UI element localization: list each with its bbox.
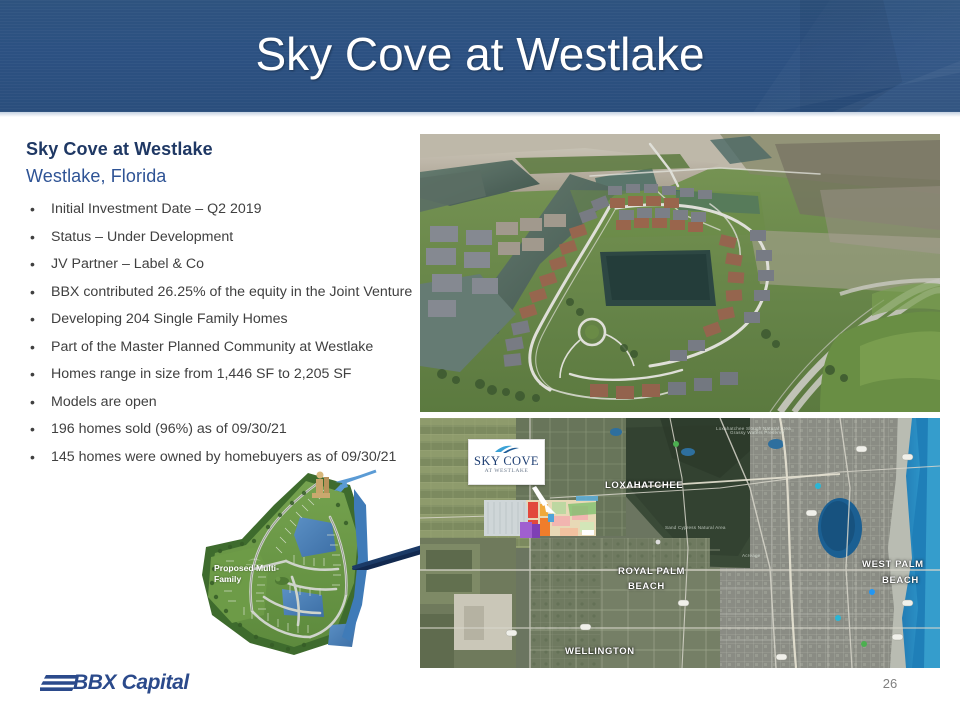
bullet-text: Part of the Master Planned Community at … — [51, 339, 373, 355]
bullet-text: Developing 204 Single Family Homes — [51, 311, 288, 327]
page-title: Sky Cove at Westlake — [0, 26, 960, 82]
map-preserve-label: Grassy Waters Preserve — [730, 430, 784, 436]
bullet-marker-icon: • — [30, 365, 35, 384]
map-place-label: WEST PALM — [862, 559, 924, 570]
map-place-label: ROYAL PALM — [618, 566, 685, 577]
aerial-photo-image — [420, 134, 940, 412]
map-place-label: BEACH — [882, 575, 919, 586]
page-number: 26 — [870, 676, 910, 691]
subject-title: Sky Cove at Westlake — [26, 139, 213, 160]
bullet-text: JV Partner – Label & Co — [51, 256, 204, 272]
map-place-label: WELLINGTON — [565, 646, 635, 657]
bullet-text: Models are open — [51, 394, 157, 410]
map-preserve-label: Sand Cypress Natural Area — [665, 525, 726, 531]
bullet-marker-icon: • — [30, 420, 35, 439]
bbx-capital-logo: BBX Capital — [40, 671, 220, 697]
bullet-item: •Developing 204 Single Family Homes — [26, 310, 418, 329]
bullet-marker-icon: • — [30, 200, 35, 219]
bullet-marker-icon: • — [30, 255, 35, 274]
bullet-item: •196 homes sold (96%) as of 09/30/21 — [26, 420, 418, 439]
map-preserve-label: Acreage — [742, 553, 761, 559]
sky-cove-bird-icon — [494, 445, 520, 454]
map-place-label: LOXAHATCHEE — [605, 480, 683, 491]
site-plan-pointer-arrow — [318, 468, 378, 498]
site-plan-label: Proposed Multi-Family — [214, 563, 288, 584]
bullet-item: •Models are open — [26, 393, 418, 412]
bullet-item: •145 homes were owned by homebuyers as o… — [26, 448, 418, 467]
bullet-item: •BBX contributed 26.25% of the equity in… — [26, 283, 418, 302]
bullet-item: •Homes range in size from 1,446 SF to 2,… — [26, 365, 418, 384]
bullet-list: •Initial Investment Date – Q2 2019•Statu… — [26, 200, 418, 475]
bullet-marker-icon: • — [30, 283, 35, 302]
header-banner: Sky Cove at Westlake — [0, 0, 960, 117]
header-underglow — [0, 112, 960, 117]
bullet-marker-icon: • — [30, 310, 35, 329]
bullet-text: Initial Investment Date – Q2 2019 — [51, 201, 262, 217]
sky-cove-logo-subtitle: AT WESTLAKE — [469, 468, 544, 474]
bullet-marker-icon: • — [30, 228, 35, 247]
sky-cove-logo-card: SKY COVE AT WESTLAKE — [468, 439, 545, 485]
bullet-text: Homes range in size from 1,446 SF to 2,2… — [51, 366, 351, 382]
bullet-text: BBX contributed 26.25% of the equity in … — [51, 284, 412, 300]
aerial-photo — [420, 134, 940, 412]
bullet-text: 145 homes were owned by homebuyers as of… — [51, 449, 396, 465]
bullet-item: •Part of the Master Planned Community at… — [26, 338, 418, 357]
bullet-item: •Status – Under Development — [26, 228, 418, 247]
subject-location: Westlake, Florida — [26, 166, 166, 187]
bullet-item: •JV Partner – Label & Co — [26, 255, 418, 274]
bullet-text: 196 homes sold (96%) as of 09/30/21 — [51, 421, 287, 437]
bullet-marker-icon: • — [30, 393, 35, 412]
bullet-text: Status – Under Development — [51, 229, 233, 245]
bullet-item: •Initial Investment Date – Q2 2019 — [26, 200, 418, 219]
bbx-capital-wordmark: BBX Capital — [73, 671, 189, 695]
bullet-marker-icon: • — [30, 448, 35, 467]
map-place-label: BEACH — [628, 581, 665, 592]
bullet-marker-icon: • — [30, 338, 35, 357]
sky-cove-logo-name: SKY COVE — [469, 454, 544, 469]
satellite-map: SKY COVE AT WESTLAKE LOXAHATCHEEROYAL PA… — [420, 418, 940, 668]
